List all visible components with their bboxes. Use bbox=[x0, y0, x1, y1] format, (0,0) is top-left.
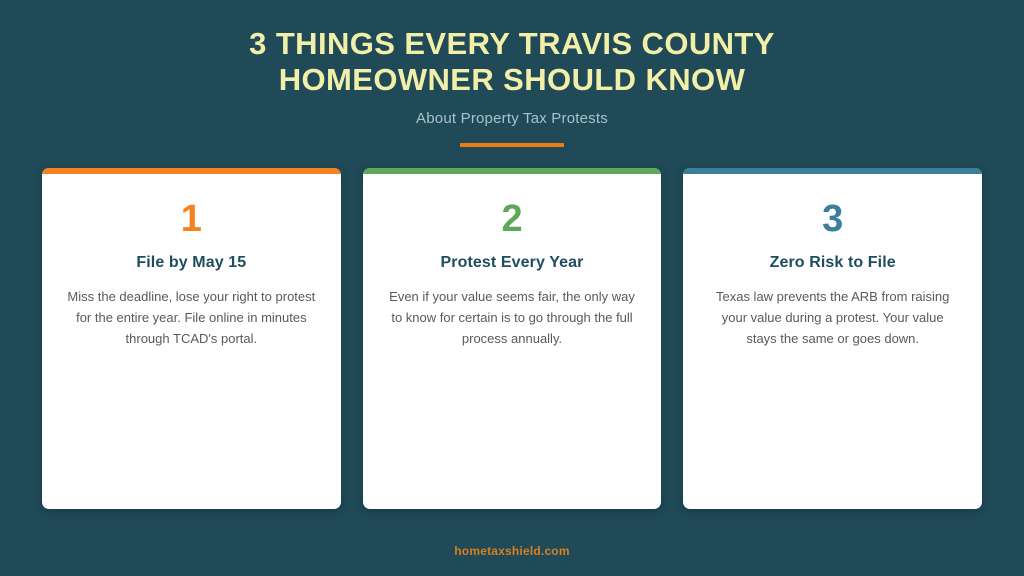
page-title: 3 THINGS EVERY TRAVIS COUNTY HOMEOWNER S… bbox=[192, 26, 832, 98]
card-title-3: Zero Risk to File bbox=[705, 254, 960, 272]
card-2: 2 Protest Every Year Even if your value … bbox=[363, 168, 662, 509]
card-number-1: 1 bbox=[64, 200, 319, 238]
card-text-1: Miss the deadline, lose your right to pr… bbox=[64, 286, 319, 349]
card-number-3: 3 bbox=[705, 200, 960, 238]
footer-website-link[interactable]: hometaxshield.com bbox=[454, 544, 569, 558]
card-body-1: 1 File by May 15 Miss the deadline, lose… bbox=[42, 174, 341, 349]
card-number-2: 2 bbox=[385, 200, 640, 238]
card-title-1: File by May 15 bbox=[64, 254, 319, 272]
card-3: 3 Zero Risk to File Texas law prevents t… bbox=[683, 168, 982, 509]
infographic-root: 3 THINGS EVERY TRAVIS COUNTY HOMEOWNER S… bbox=[0, 0, 1024, 576]
card-body-3: 3 Zero Risk to File Texas law prevents t… bbox=[683, 174, 982, 349]
card-title-2: Protest Every Year bbox=[385, 254, 640, 272]
header: 3 THINGS EVERY TRAVIS COUNTY HOMEOWNER S… bbox=[0, 0, 1024, 147]
card-text-2: Even if your value seems fair, the only … bbox=[385, 286, 640, 349]
card-text-3: Texas law prevents the ARB from raising … bbox=[705, 286, 960, 349]
card-1: 1 File by May 15 Miss the deadline, lose… bbox=[42, 168, 341, 509]
page-subtitle: About Property Tax Protests bbox=[0, 110, 1024, 127]
footer: hometaxshield.com bbox=[0, 520, 1024, 576]
cards-container: 1 File by May 15 Miss the deadline, lose… bbox=[0, 147, 1024, 520]
card-body-2: 2 Protest Every Year Even if your value … bbox=[363, 174, 662, 349]
